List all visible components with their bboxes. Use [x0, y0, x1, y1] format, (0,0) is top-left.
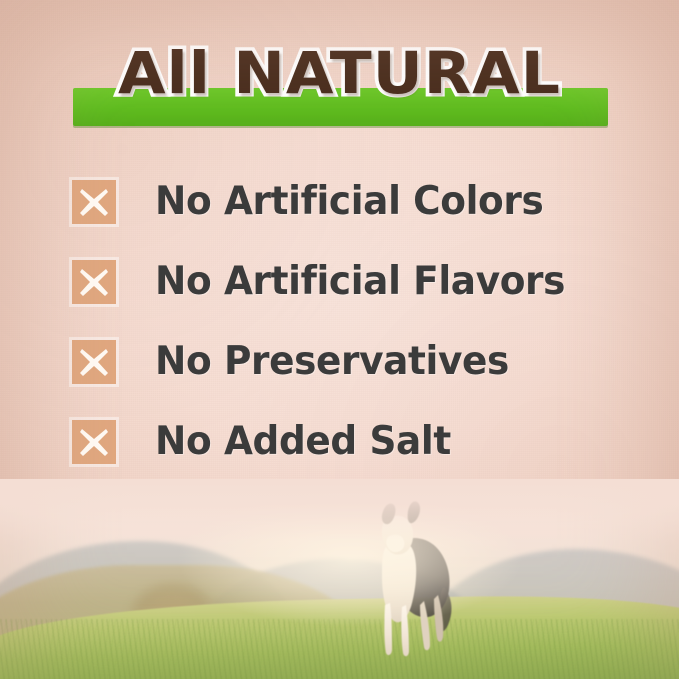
list-item-label: No Artificial Flavors [155, 252, 565, 312]
page-title: All NATURAL [0, 44, 679, 102]
list-item-label: No Artificial Colors [155, 172, 543, 232]
x-mark-icon [72, 420, 116, 464]
list-item-label: No Preservatives [155, 332, 509, 392]
x-mark-icon [72, 260, 116, 304]
lifestyle-photo [0, 479, 679, 679]
product-feature-poster: All NATURAL No Artificial Colors No Arti… [0, 0, 679, 679]
dog-photo-subject [352, 491, 472, 671]
list-item-label: No Added Salt [155, 412, 451, 472]
list-item: No Preservatives [0, 332, 679, 412]
headline-banner: All NATURAL [0, 44, 679, 144]
list-item: No Artificial Flavors [0, 252, 679, 332]
x-mark-icon [72, 340, 116, 384]
x-mark-icon [72, 180, 116, 224]
claims-list: No Artificial Colors No Artificial Flavo… [0, 172, 679, 492]
list-item: No Artificial Colors [0, 172, 679, 252]
grass-texture [0, 619, 679, 679]
